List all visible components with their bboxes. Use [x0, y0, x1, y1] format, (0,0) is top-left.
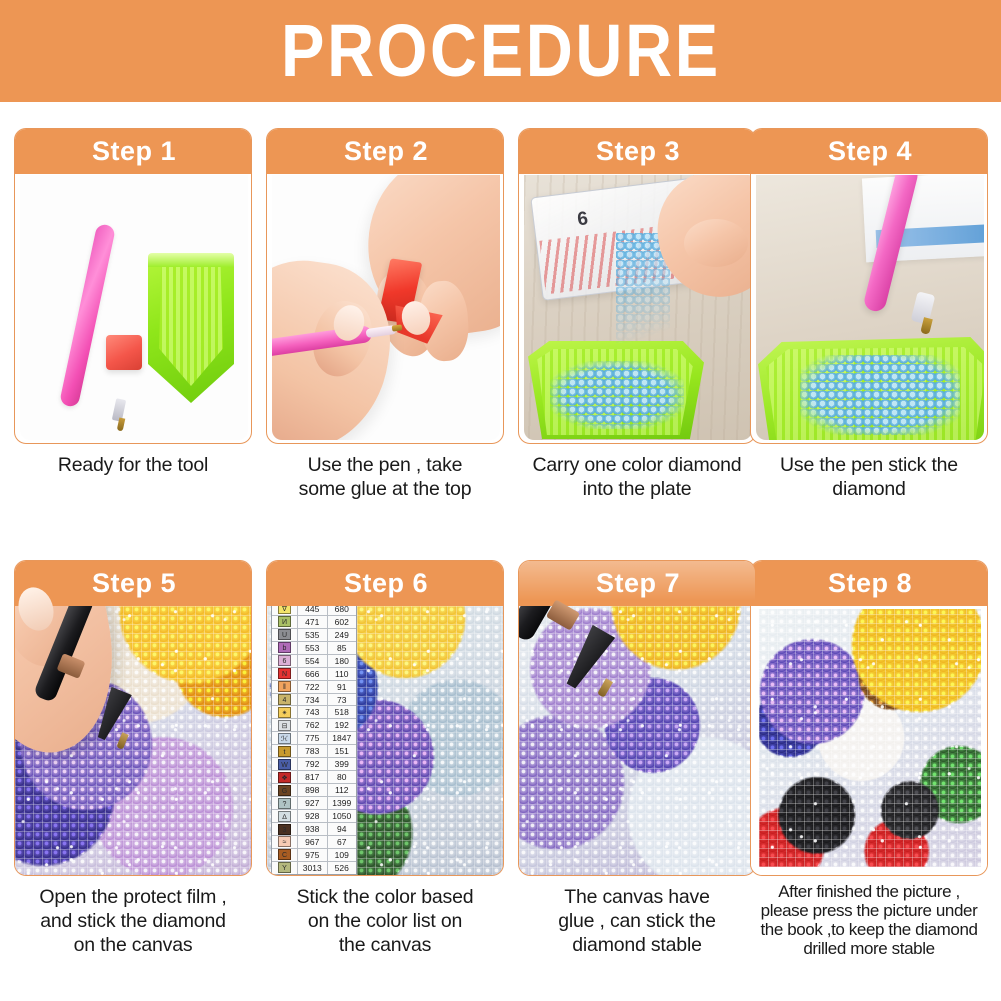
step-6-badge: Step 6 — [266, 560, 504, 606]
color-chart-row: ℋ7751847 — [272, 732, 356, 745]
color-chart-row: 393894 — [272, 823, 356, 836]
step-1-caption: Ready for the tool — [14, 454, 252, 478]
step-3-badge: Step 3 — [518, 128, 756, 174]
color-count-cell: 192 — [328, 719, 357, 731]
procedure-poster: PROCEDURE — [0, 0, 1001, 1001]
color-swatch: ‖ — [278, 681, 291, 692]
color-swatch: 3 — [278, 824, 291, 835]
color-count-cell: 526 — [328, 862, 357, 874]
color-count-cell: 109 — [328, 849, 357, 861]
step-5-caption: Open the protect film , and stick the di… — [14, 886, 252, 957]
color-chart-row: C975109 — [272, 849, 356, 862]
caption-line: and stick the diamond — [14, 910, 252, 934]
color-symbol-cell: W — [272, 758, 298, 770]
color-swatch: ℋ — [278, 733, 291, 744]
steps-row-bottom: Step 5 Open the protect film , and stick… — [0, 560, 1001, 992]
steps-row-top: Step 1 Ready for the tool — [0, 128, 1001, 560]
color-count-cell: 67 — [328, 836, 357, 848]
caption-line: diamond stable — [518, 934, 756, 958]
step-8-badge: Step 8 — [750, 560, 988, 606]
color-symbol-cell: ℋ — [272, 732, 298, 744]
color-chart-row: W792399 — [272, 758, 356, 771]
color-swatch: b — [278, 642, 291, 653]
color-chart-row: G898112 — [272, 784, 356, 797]
color-chart-row: ≈96767 — [272, 836, 356, 849]
color-swatch: W — [278, 759, 291, 770]
caption-line: Open the protect film , — [14, 886, 252, 910]
color-code-cell: 938 — [298, 823, 328, 835]
sparkle-highlights — [759, 609, 981, 867]
color-swatch: И — [278, 616, 291, 627]
color-chart-row: ⊟762192 — [272, 719, 356, 732]
page-title: PROCEDURE — [281, 14, 721, 88]
color-swatch: U — [278, 629, 291, 640]
step-3-frame: 6 Step 3 — [518, 128, 756, 444]
color-symbol-cell: ? — [272, 797, 298, 809]
color-swatch: ? — [278, 798, 291, 809]
step-5-frame: Step 5 — [14, 560, 252, 876]
color-code-cell: 898 — [298, 784, 328, 796]
color-count-cell: 85 — [328, 642, 357, 654]
caption-line: Stick the color based — [266, 886, 504, 910]
step-5-badge-label: Step 5 — [92, 570, 176, 597]
step-card-4[interactable]: Step 4 Use the pen stick the diamond — [750, 128, 988, 560]
color-code-cell: 967 — [298, 836, 328, 848]
step-4-frame: Step 4 — [750, 128, 988, 444]
color-count-cell: 112 — [328, 784, 357, 796]
caption-line: the book ,to keep the diamond — [746, 920, 992, 939]
color-count-cell: 110 — [328, 668, 357, 680]
color-chart-row: 6554180 — [272, 655, 356, 668]
color-symbol-cell: N — [272, 668, 298, 680]
caption-line: Use the pen stick the — [750, 454, 988, 478]
color-code-cell: 775 — [298, 732, 328, 744]
caption-line: glue , can stick the — [518, 910, 756, 934]
color-swatch: t — [278, 746, 291, 757]
color-code-chart[interactable]: T209176◉415362Ω43573∇445680И471602U53524… — [271, 563, 357, 875]
steps-grid: Step 1 Ready for the tool — [0, 102, 1001, 1001]
caption-line: on the canvas — [14, 934, 252, 958]
color-code-cell: 471 — [298, 616, 328, 628]
step-2-frame: Step 2 — [266, 128, 504, 444]
color-swatch: C — [278, 849, 291, 860]
color-chart-row: U535249 — [272, 629, 356, 642]
step-1-badge-label: Step 1 — [92, 138, 176, 165]
color-swatch: ✴ — [278, 707, 291, 718]
color-chart-row: b55385 — [272, 642, 356, 655]
color-code-cell: 734 — [298, 694, 328, 706]
step-card-5[interactable]: Step 5 Open the protect film , and stick… — [14, 560, 252, 992]
step-7-caption: The canvas have glue , can stick the dia… — [518, 886, 756, 957]
tray-lip-icon — [148, 253, 234, 267]
step-card-3[interactable]: 6 Step 3 Carry one color diamond into th… — [518, 128, 756, 560]
step-4-caption: Use the pen stick the diamond — [750, 454, 988, 502]
color-count-cell: 518 — [328, 706, 357, 718]
color-count-cell: 180 — [328, 655, 357, 667]
color-count-cell: 602 — [328, 616, 357, 628]
color-chart-row: И471602 — [272, 616, 356, 629]
step-2-badge-label: Step 2 — [344, 138, 428, 165]
color-chart-row: Y3013526 — [272, 862, 356, 874]
step-8-frame: Step 8 — [750, 560, 988, 876]
color-chart-row: ∆9281050 — [272, 810, 356, 823]
color-symbol-cell: U — [272, 629, 298, 641]
color-symbol-cell: ≈ — [272, 836, 298, 848]
color-symbol-cell: ✴ — [272, 706, 298, 718]
finger-icon — [684, 219, 748, 267]
glue-wax-icon — [106, 335, 142, 370]
step-6-caption: Stick the color based on the color list … — [266, 886, 504, 957]
color-count-cell: 1399 — [328, 797, 357, 809]
step-card-8[interactable]: Step 8 After finished the picture , plea… — [750, 560, 988, 992]
color-symbol-cell: 6 — [272, 655, 298, 667]
caption-line: diamond — [750, 478, 988, 502]
color-count-cell: 80 — [328, 771, 357, 783]
step-card-7[interactable]: Step 7 The canvas have glue , can stick … — [518, 560, 756, 992]
color-code-cell: 928 — [298, 810, 328, 822]
color-code-cell: 743 — [298, 706, 328, 718]
caption-line: drilled more stable — [746, 939, 992, 958]
step-card-2[interactable]: Step 2 Use the pen , take some glue at t… — [266, 128, 504, 560]
color-symbol-cell: ❖ — [272, 771, 298, 783]
step-card-6[interactable]: T209176◉415362Ω43573∇445680И471602U53524… — [266, 560, 504, 992]
step-7-photo — [519, 561, 756, 876]
finished-artwork — [759, 609, 981, 867]
color-code-cell: 666 — [298, 668, 328, 680]
color-swatch: 6 — [278, 655, 291, 666]
step-2-photo — [272, 175, 500, 440]
color-symbol-cell: И — [272, 616, 298, 628]
step-8-badge-label: Step 8 — [828, 570, 912, 597]
color-symbol-cell: G — [272, 784, 298, 796]
caption-line: into the plate — [518, 478, 756, 502]
color-count-cell: 1050 — [328, 810, 357, 822]
step-1-badge: Step 1 — [14, 128, 252, 174]
color-code-cell: 722 — [298, 681, 328, 693]
color-swatch: G — [278, 785, 291, 796]
caption-line: some glue at the top — [266, 478, 504, 502]
bag-number: 6 — [576, 208, 589, 230]
color-code-cell: 792 — [298, 758, 328, 770]
color-swatch: ⊟ — [278, 720, 291, 731]
color-chart-row: t783151 — [272, 745, 356, 758]
step-2-badge: Step 2 — [266, 128, 504, 174]
color-swatch: ≈ — [278, 836, 291, 847]
color-swatch: N — [278, 668, 291, 679]
caption-line: the canvas — [266, 934, 504, 958]
caption-line: After finished the picture , — [746, 882, 992, 901]
color-count-cell: 91 — [328, 681, 357, 693]
color-count-cell: 73 — [328, 694, 357, 706]
step-7-frame: Step 7 — [518, 560, 756, 876]
step-4-badge: Step 4 — [750, 128, 988, 174]
color-chart-row: ?9271399 — [272, 797, 356, 810]
color-swatch: Y — [278, 862, 291, 873]
color-count-cell: 94 — [328, 823, 357, 835]
step-6-frame: T209176◉415362Ω43573∇445680И471602U53524… — [266, 560, 504, 876]
color-symbol-cell: ⊟ — [272, 719, 298, 731]
step-6-photo: T209176◉415362Ω43573∇445680И471602U53524… — [267, 561, 504, 876]
color-swatch: ∆ — [278, 811, 291, 822]
color-symbol-cell: 3 — [272, 823, 298, 835]
caption-line: Use the pen , take — [266, 454, 504, 478]
caption-line: The canvas have — [518, 886, 756, 910]
step-5-photo — [15, 561, 252, 876]
color-symbol-cell: C — [272, 849, 298, 861]
step-2-caption: Use the pen , take some glue at the top — [266, 454, 504, 502]
color-code-cell: 762 — [298, 719, 328, 731]
color-chart-row: ✴743518 — [272, 706, 356, 719]
caption-line: on the color list on — [266, 910, 504, 934]
blue-diamonds-in-tray — [800, 355, 960, 435]
color-symbol-cell: 4 — [272, 694, 298, 706]
step-8-photo — [751, 561, 988, 876]
color-code-cell: 535 — [298, 629, 328, 641]
color-symbol-cell: ‖ — [272, 681, 298, 693]
step-1-photo — [20, 175, 248, 440]
caption-line: Carry one color diamond — [518, 454, 756, 478]
step-8-caption: After finished the picture , please pres… — [746, 882, 992, 958]
step-3-photo: 6 — [524, 175, 752, 440]
color-count-cell: 399 — [328, 758, 357, 770]
caption-line: Ready for the tool — [14, 454, 252, 478]
diamond-canvas — [759, 609, 981, 867]
color-code-cell: 554 — [298, 655, 328, 667]
step-6-badge-label: Step 6 — [344, 570, 428, 597]
page-header-banner: PROCEDURE — [0, 0, 1001, 102]
color-chart-row: ❖81780 — [272, 771, 356, 784]
color-code-cell: 817 — [298, 771, 328, 783]
color-count-cell: 1847 — [328, 732, 357, 744]
color-symbol-cell: b — [272, 642, 298, 654]
color-symbol-cell: t — [272, 745, 298, 757]
caption-line: please press the picture under — [746, 901, 992, 920]
step-4-photo — [756, 175, 984, 440]
color-count-cell: 151 — [328, 745, 357, 757]
color-code-cell: 975 — [298, 849, 328, 861]
color-swatch: 4 — [278, 694, 291, 705]
color-symbol-cell: Y — [272, 862, 298, 874]
color-chart-row: 473473 — [272, 694, 356, 707]
step-3-badge-label: Step 3 — [596, 138, 680, 165]
color-code-cell: 783 — [298, 745, 328, 757]
step-4-badge-label: Step 4 — [828, 138, 912, 165]
step-card-1[interactable]: Step 1 Ready for the tool — [14, 128, 252, 560]
blue-diamonds-in-tray — [550, 361, 684, 429]
color-code-cell: 3013 — [298, 862, 328, 874]
color-code-cell: 553 — [298, 642, 328, 654]
color-chart-row: ‖72291 — [272, 681, 356, 694]
color-symbol-cell: ∆ — [272, 810, 298, 822]
color-chart-row: N666110 — [272, 668, 356, 681]
step-1-frame: Step 1 — [14, 128, 252, 444]
color-swatch: ❖ — [278, 772, 291, 783]
color-count-cell: 249 — [328, 629, 357, 641]
step-3-caption: Carry one color diamond into the plate — [518, 454, 756, 502]
color-code-cell: 927 — [298, 797, 328, 809]
top-glare — [519, 561, 756, 601]
